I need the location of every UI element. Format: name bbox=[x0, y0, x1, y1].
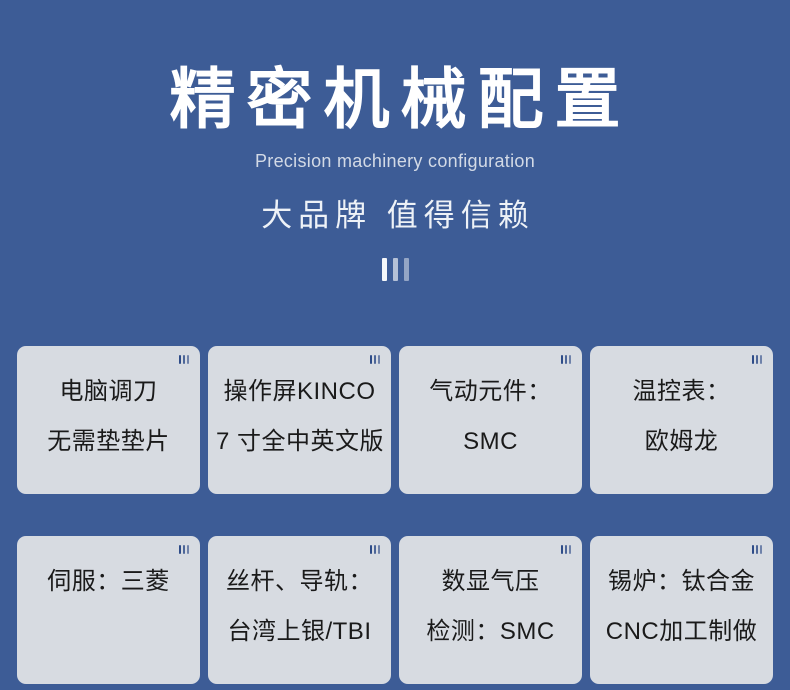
card-text: 数显气压 检测：SMC bbox=[407, 568, 574, 646]
card-text: 温控表： 欧姆龙 bbox=[598, 378, 765, 456]
card-operation-screen-kinco[interactable]: 操作屏KINCO 7 寸全中英文版 bbox=[208, 346, 391, 494]
card-pneumatic-components[interactable]: 气动元件： SMC bbox=[399, 346, 582, 494]
card-line-secondary: SMC bbox=[407, 428, 574, 456]
card-line-primary: 数显气压 bbox=[407, 568, 574, 596]
three-bars-icon bbox=[752, 355, 762, 364]
three-bars-icon bbox=[179, 355, 189, 364]
card-tin-furnace-titanium[interactable]: 锡炉：钛合金 CNC加工制做 bbox=[590, 536, 773, 684]
three-bars-icon bbox=[561, 355, 571, 364]
spec-card-grid: 电脑调刀 无需垫垫片 操作屏KINCO 7 寸全中英文版 气动元件： SMC bbox=[17, 346, 773, 684]
card-line-secondary: 台湾上银/TBI bbox=[216, 618, 383, 646]
card-line-secondary: 欧姆龙 bbox=[598, 428, 765, 456]
page-slogan: 大品牌 值得信赖 bbox=[0, 172, 790, 235]
card-line-primary: 操作屏KINCO bbox=[216, 378, 383, 406]
page-title: 精密机械配置 bbox=[0, 0, 790, 136]
card-servo-mitsubishi[interactable]: 伺服：三菱 bbox=[17, 536, 200, 684]
three-bar-divider-icon bbox=[0, 235, 790, 281]
card-line-secondary: CNC加工制做 bbox=[598, 618, 765, 646]
card-line-primary: 伺服：三菱 bbox=[25, 568, 192, 596]
card-temperature-controller[interactable]: 温控表： 欧姆龙 bbox=[590, 346, 773, 494]
card-line-primary: 锡炉：钛合金 bbox=[598, 568, 765, 596]
promo-banner: 精密机械配置 Precision machinery configuration… bbox=[0, 0, 790, 690]
card-screw-guide-rail[interactable]: 丝杆、导轨： 台湾上银/TBI bbox=[208, 536, 391, 684]
card-line-secondary: 7 寸全中英文版 bbox=[216, 428, 383, 456]
card-text: 锡炉：钛合金 CNC加工制做 bbox=[598, 568, 765, 646]
divider-bar-2 bbox=[393, 258, 398, 281]
card-digital-air-pressure[interactable]: 数显气压 检测：SMC bbox=[399, 536, 582, 684]
divider-bar-3 bbox=[404, 258, 409, 281]
card-text: 气动元件： SMC bbox=[407, 378, 574, 456]
three-bars-icon bbox=[179, 545, 189, 554]
three-bars-icon bbox=[370, 355, 380, 364]
three-bars-icon bbox=[752, 545, 762, 554]
card-text: 伺服：三菱 bbox=[25, 568, 192, 596]
banner-header: 精密机械配置 Precision machinery configuration… bbox=[0, 0, 790, 281]
card-line-secondary: 检测：SMC bbox=[407, 618, 574, 646]
divider-bar-1 bbox=[382, 258, 387, 281]
page-subtitle-english: Precision machinery configuration bbox=[0, 136, 790, 172]
card-text: 电脑调刀 无需垫垫片 bbox=[25, 378, 192, 456]
three-bars-icon bbox=[370, 545, 380, 554]
card-text: 丝杆、导轨： 台湾上银/TBI bbox=[216, 568, 383, 646]
card-computer-tool-adjust[interactable]: 电脑调刀 无需垫垫片 bbox=[17, 346, 200, 494]
card-line-primary: 气动元件： bbox=[407, 378, 574, 406]
card-line-secondary: 无需垫垫片 bbox=[25, 428, 192, 456]
three-bars-icon bbox=[561, 545, 571, 554]
card-text: 操作屏KINCO 7 寸全中英文版 bbox=[216, 378, 383, 456]
card-line-primary: 电脑调刀 bbox=[25, 378, 192, 406]
card-line-primary: 丝杆、导轨： bbox=[216, 568, 383, 596]
card-line-primary: 温控表： bbox=[598, 378, 765, 406]
